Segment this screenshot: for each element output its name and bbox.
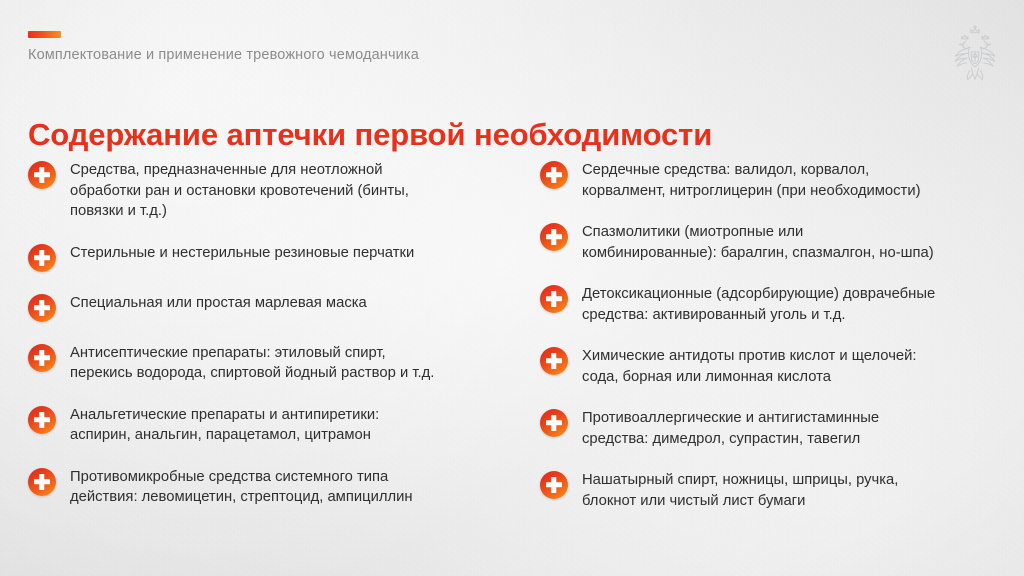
- left-column: Средства, предназначенные для неотложной…: [0, 160, 512, 511]
- orange-circle-cross-icon: [540, 161, 568, 189]
- orange-circle-cross-icon: [28, 406, 56, 434]
- list-item: Нашатырный спирт, ножницы, шприцы, ручка…: [540, 470, 1006, 511]
- list-item: Антисептические препараты: этиловый спир…: [28, 343, 494, 384]
- accent-bar: [28, 31, 61, 38]
- orange-circle-cross-icon: [28, 344, 56, 372]
- content-columns: Средства, предназначенные для неотложной…: [0, 160, 1024, 511]
- orange-circle-cross-icon: [540, 347, 568, 375]
- orange-circle-cross-icon: [540, 471, 568, 499]
- list-item-label: Антисептические препараты: этиловый спир…: [70, 343, 434, 384]
- orange-circle-cross-icon: [540, 409, 568, 437]
- slide: Комплектование и применение тревожного ч…: [0, 0, 1024, 576]
- double-headed-eagle-emblem-icon: [944, 22, 1006, 88]
- list-item-label: Специальная или простая марлевая маска: [70, 293, 367, 314]
- list-item: Стерильные и нестерильные резиновые перч…: [28, 243, 494, 272]
- list-item: Спазмолитики (миотропные или комбинирова…: [540, 222, 1006, 263]
- list-item: Детоксикационные (адсорбирующие) довраче…: [540, 284, 1006, 325]
- list-item-label: Детоксикационные (адсорбирующие) довраче…: [582, 284, 935, 325]
- orange-circle-cross-icon: [28, 244, 56, 272]
- list-item-label: Средства, предназначенные для неотложной…: [70, 160, 409, 222]
- orange-circle-cross-icon: [28, 294, 56, 322]
- page-title: Содержание аптечки первой необходимости: [28, 117, 712, 153]
- list-item: Противомикробные средства системного тип…: [28, 467, 494, 508]
- list-item-label: Противоаллергические и антигистаминные с…: [582, 408, 879, 449]
- orange-circle-cross-icon: [540, 223, 568, 251]
- list-item-label: Спазмолитики (миотропные или комбинирова…: [582, 222, 934, 263]
- right-column: Сердечные средства: валидол, корвалол, к…: [512, 160, 1024, 511]
- orange-circle-cross-icon: [28, 161, 56, 189]
- list-item: Химические антидоты против кислот и щело…: [540, 346, 1006, 387]
- list-item-label: Стерильные и нестерильные резиновые перч…: [70, 243, 414, 264]
- list-item: Сердечные средства: валидол, корвалол, к…: [540, 160, 1006, 201]
- list-item-label: Химические антидоты против кислот и щело…: [582, 346, 917, 387]
- orange-circle-cross-icon: [28, 468, 56, 496]
- list-item-label: Сердечные средства: валидол, корвалол, к…: [582, 160, 921, 201]
- slide-kicker: Комплектование и применение тревожного ч…: [28, 47, 419, 63]
- list-item: Средства, предназначенные для неотложной…: [28, 160, 494, 222]
- orange-circle-cross-icon: [540, 285, 568, 313]
- list-item: Анальгетические препараты и антипиретики…: [28, 405, 494, 446]
- list-item-label: Нашатырный спирт, ножницы, шприцы, ручка…: [582, 470, 898, 511]
- list-item: Специальная или простая марлевая маска: [28, 293, 494, 322]
- list-item-label: Анальгетические препараты и антипиретики…: [70, 405, 379, 446]
- list-item: Противоаллергические и антигистаминные с…: [540, 408, 1006, 449]
- list-item-label: Противомикробные средства системного тип…: [70, 467, 413, 508]
